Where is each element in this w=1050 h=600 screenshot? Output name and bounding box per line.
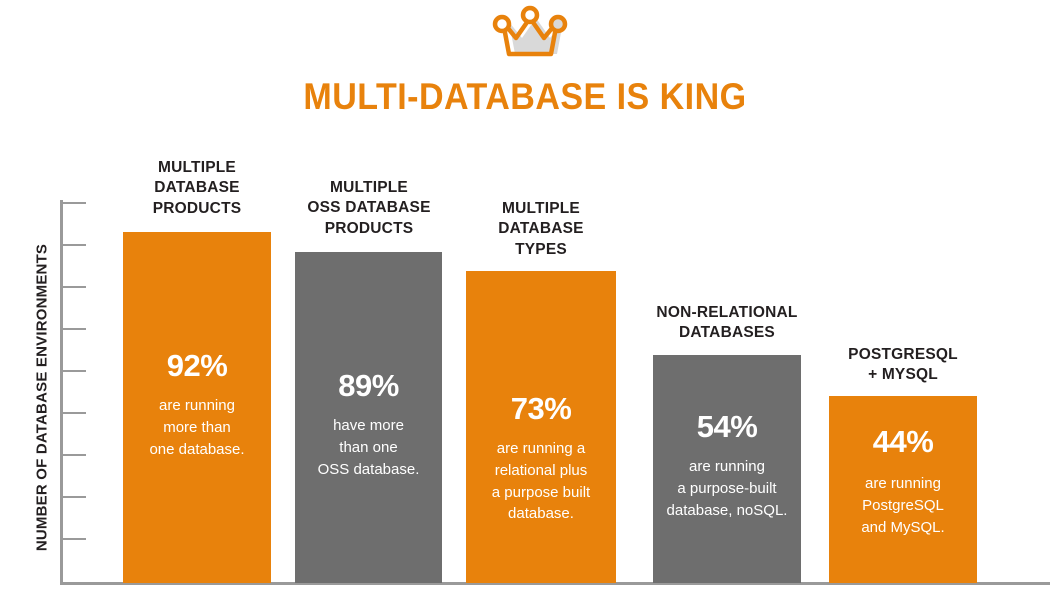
label-line: PRODUCTS bbox=[292, 219, 446, 239]
desc-line: have more bbox=[303, 415, 434, 437]
desc-line: are running bbox=[837, 473, 969, 495]
bar-description-3: are running a relational plus a purpose … bbox=[466, 438, 616, 525]
bar-multiple-database-products: 92% are running more than one database. bbox=[123, 232, 271, 583]
desc-line: are running a bbox=[474, 438, 608, 460]
bar-category-label-4: NON-RELATIONAL DATABASES bbox=[641, 303, 813, 344]
desc-line: a purpose-built bbox=[661, 478, 793, 500]
bar-value-4: 54% bbox=[653, 411, 801, 442]
desc-line: PostgreSQL bbox=[837, 495, 969, 517]
label-line: POSTGRESQL bbox=[817, 345, 989, 365]
bar-non-relational-databases: 54% are running a purpose-built database… bbox=[653, 355, 801, 583]
bar-description-4: are running a purpose-built database, no… bbox=[653, 456, 801, 521]
y-axis-tick bbox=[60, 538, 86, 540]
label-line: MULTIPLE bbox=[292, 178, 446, 198]
desc-line: OSS database. bbox=[303, 459, 434, 481]
label-line: DATABASES bbox=[641, 323, 813, 343]
bar-category-label-5: POSTGRESQL + MYSQL bbox=[817, 345, 989, 386]
desc-line: a purpose built bbox=[474, 482, 608, 504]
crown-icon bbox=[489, 4, 571, 60]
desc-line: database, noSQL. bbox=[661, 500, 793, 522]
bar-value-1: 92% bbox=[123, 350, 271, 381]
bar-multiple-oss-database-products: 89% have more than one OSS database. bbox=[295, 252, 442, 583]
bar-value-5: 44% bbox=[829, 426, 977, 457]
label-line: PRODUCTS bbox=[120, 199, 274, 219]
y-axis-tick bbox=[60, 412, 86, 414]
y-axis-label: NUMBER OF DATABASE ENVIRONMENTS bbox=[34, 208, 51, 588]
desc-line: are running bbox=[131, 395, 263, 417]
label-line: NON-RELATIONAL bbox=[641, 303, 813, 323]
desc-line: more than bbox=[131, 417, 263, 439]
bar-category-label-1: MULTIPLE DATABASE PRODUCTS bbox=[120, 158, 274, 219]
y-axis-tick bbox=[60, 202, 86, 204]
label-line: TYPES bbox=[464, 240, 618, 260]
bar-description-2: have more than one OSS database. bbox=[295, 415, 442, 480]
label-line: DATABASE bbox=[464, 219, 618, 239]
bar-description-5: are running PostgreSQL and MySQL. bbox=[829, 473, 977, 538]
desc-line: are running bbox=[661, 456, 793, 478]
desc-line: relational plus bbox=[474, 460, 608, 482]
bar-category-label-3: MULTIPLE DATABASE TYPES bbox=[464, 199, 618, 260]
y-axis-tick bbox=[60, 370, 86, 372]
label-line: DATABASE bbox=[120, 178, 274, 198]
y-axis-tick bbox=[60, 244, 86, 246]
desc-line: database. bbox=[474, 503, 608, 525]
bar-multiple-database-types: 73% are running a relational plus a purp… bbox=[466, 271, 616, 583]
label-line: OSS DATABASE bbox=[292, 198, 446, 218]
bar-postgresql-mysql: 44% are running PostgreSQL and MySQL. bbox=[829, 396, 977, 583]
page-title: MULTI-DATABASE IS KING bbox=[42, 76, 1008, 118]
bar-description-1: are running more than one database. bbox=[123, 395, 271, 460]
y-axis-tick bbox=[60, 286, 86, 288]
y-axis-line bbox=[60, 200, 63, 585]
y-axis-tick bbox=[60, 328, 86, 330]
label-line: + MYSQL bbox=[817, 365, 989, 385]
label-line: MULTIPLE bbox=[120, 158, 274, 178]
label-line: MULTIPLE bbox=[464, 199, 618, 219]
infographic-chart: MULTI-DATABASE IS KING NUMBER OF DATABAS… bbox=[0, 0, 1050, 600]
desc-line: one database. bbox=[131, 439, 263, 461]
bar-value-3: 73% bbox=[466, 393, 616, 424]
desc-line: than one bbox=[303, 437, 434, 459]
bar-value-2: 89% bbox=[295, 370, 442, 401]
desc-line: and MySQL. bbox=[837, 517, 969, 539]
y-axis-tick bbox=[60, 496, 86, 498]
bar-category-label-2: MULTIPLE OSS DATABASE PRODUCTS bbox=[292, 178, 446, 239]
y-axis-tick bbox=[60, 454, 86, 456]
